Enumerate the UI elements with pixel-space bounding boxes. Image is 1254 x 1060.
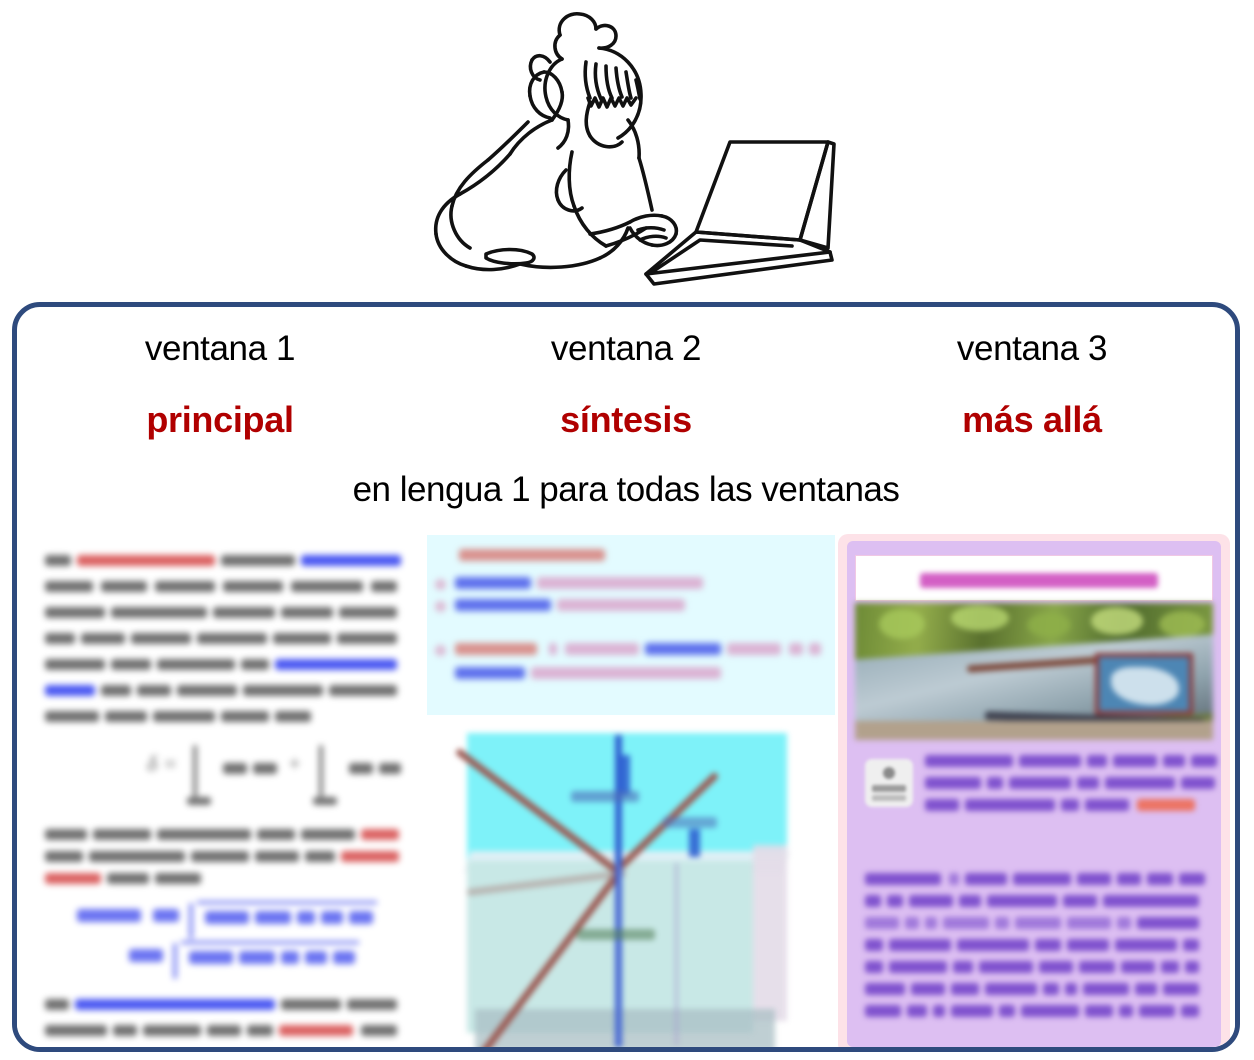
blurred-slide-title — [920, 573, 1158, 588]
document-icon — [865, 759, 913, 807]
panel-mas-alla[interactable] — [835, 529, 1235, 1052]
window-labels-row: ventana 1 ventana 2 ventana 3 — [17, 329, 1235, 369]
role-column-2: síntesis — [423, 399, 829, 441]
mas-alla-slide-outer — [838, 534, 1230, 1052]
panel-principal[interactable]: δ = + — [17, 529, 427, 1052]
window-column-2: ventana 2 — [423, 329, 829, 369]
window-column-1: ventana 1 — [17, 329, 423, 369]
role-label-sintesis: síntesis — [560, 399, 692, 440]
window-column-3: ventana 3 — [829, 329, 1235, 369]
sintesis-slide-header — [427, 535, 835, 715]
person-at-laptop-icon — [400, 2, 860, 298]
illustration-person-at-laptop — [0, 0, 1254, 300]
caption-language-note: en lengua 1 para todas las ventanas — [17, 470, 1235, 510]
blurred-slide-bullets — [427, 535, 835, 715]
role-column-3: más allá — [829, 399, 1235, 441]
windshield-photo — [855, 603, 1213, 740]
refraction-ray-diagram — [467, 733, 787, 1049]
blurred-document-content: δ = + — [37, 537, 409, 1052]
refraction-diagram-container — [445, 725, 817, 1051]
panels-row: δ = + — [17, 529, 1235, 1052]
slide-title-bar — [855, 555, 1213, 601]
role-label-principal: principal — [146, 399, 293, 440]
role-column-1: principal — [17, 399, 423, 441]
mas-alla-slide — [847, 541, 1221, 1047]
panel-sintesis[interactable] — [427, 529, 835, 1052]
role-labels-row: principal síntesis más allá — [17, 399, 1235, 441]
blurred-question-text — [925, 755, 1217, 829]
window-label-3: ventana 3 — [957, 329, 1107, 368]
window-label-2: ventana 2 — [551, 329, 701, 368]
inset-screen — [1095, 653, 1193, 715]
role-label-mas-alla: más allá — [962, 399, 1102, 440]
blurred-body-paragraph — [865, 873, 1205, 1037]
main-content-frame: ventana 1 ventana 2 ventana 3 principal … — [12, 302, 1240, 1052]
window-label-1: ventana 1 — [145, 329, 295, 368]
